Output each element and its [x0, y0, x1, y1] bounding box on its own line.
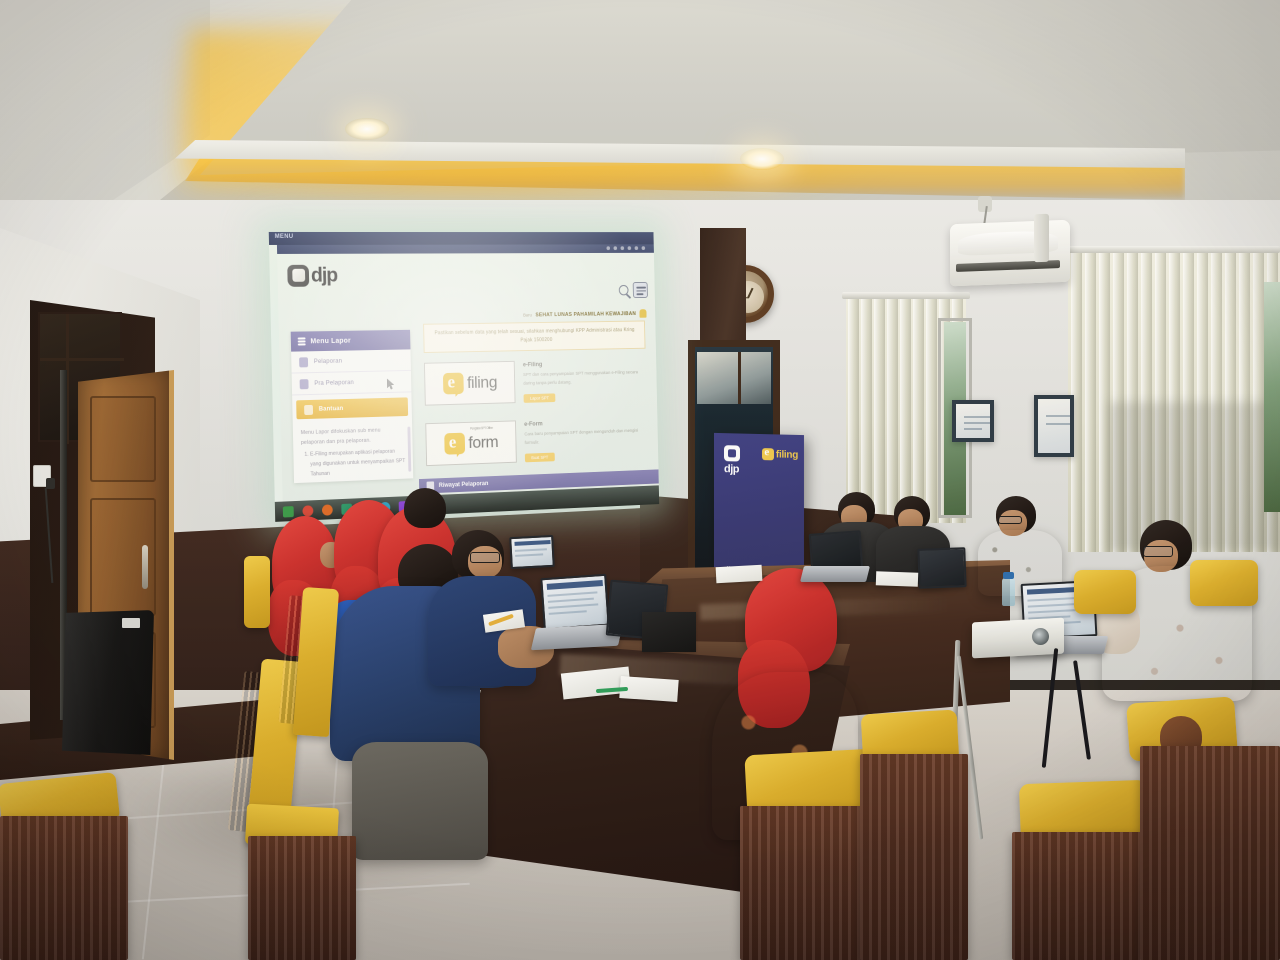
pa-speaker	[62, 610, 154, 755]
hamburger-menu-icon[interactable]	[633, 282, 648, 298]
standee-djp-logo: djp	[724, 445, 740, 475]
djp-mark-icon	[724, 445, 740, 461]
eyeglasses	[1143, 546, 1173, 557]
efiling-action-button[interactable]: Lapor SPT	[524, 394, 556, 403]
downlight-icon	[740, 148, 784, 170]
bell-icon	[639, 309, 646, 318]
start-icon[interactable]	[283, 506, 294, 517]
efiling-description: SPT dan cara penyampaian SPT menggunakan…	[523, 368, 646, 388]
blind-rail	[1062, 246, 1280, 253]
efiling-e-icon	[762, 448, 774, 460]
ticker-prefix: Baru	[523, 313, 532, 318]
document-icon	[299, 357, 308, 367]
sidebar-item-bantuan-active[interactable]: Bantuan	[296, 397, 408, 419]
search-icon[interactable]	[619, 285, 629, 295]
meeting-room-photo: MENU djp Baru SEHAT LUNAS PAHAMILAH KEWA…	[0, 0, 1280, 960]
eform-tagline: Pengisian SPT Offline	[470, 426, 493, 431]
standee-efiling-logo: filing	[762, 448, 798, 461]
service-row-efiling: filing e-Filing SPT dan cara penyampaian…	[424, 358, 647, 408]
eform-action-button[interactable]: Buat SPT	[525, 453, 555, 463]
sidebar-item-pelaporan[interactable]: Pelaporan	[291, 349, 411, 373]
laptop-screen[interactable]	[509, 535, 555, 569]
blind-rail	[842, 292, 970, 299]
chrome-icon[interactable]	[302, 505, 313, 516]
efiling-logo-card[interactable]: filing	[424, 361, 516, 406]
framed-certificate-left	[952, 400, 994, 442]
service-row-eform: Pengisian SPT Offline form e-Form Cara b…	[425, 416, 648, 468]
downlight-icon	[345, 118, 389, 140]
water-bottle[interactable]	[1002, 578, 1015, 606]
framed-certificate-right	[1034, 395, 1074, 457]
os-titlebar: MENU	[269, 232, 654, 245]
site-navbar	[277, 244, 654, 254]
standee-djp-text: djp	[724, 463, 740, 475]
sidebar-scrollbar[interactable]	[407, 427, 411, 472]
eform-word: form	[468, 433, 498, 452]
file-icon	[300, 379, 309, 389]
speaker-label	[122, 618, 140, 628]
wall-plug	[46, 478, 55, 489]
os-titlebar-label: MENU	[275, 234, 294, 240]
laptop-screen-back	[917, 547, 966, 589]
ticker-text: SEHAT LUNAS PAHAMILAH KEWAJIBAN	[535, 311, 636, 318]
riwayat-label: Riwayat Pelaporan	[439, 481, 489, 489]
eform-logo-card[interactable]: Pengisian SPT Offline form	[425, 420, 517, 466]
eyeglasses	[470, 552, 500, 563]
eform-e-icon	[444, 433, 465, 455]
navbar-dots	[606, 246, 645, 250]
djp-mark-icon	[287, 265, 309, 287]
firefox-icon[interactable]	[322, 504, 333, 515]
notice-text: Pastikan sebelum data yang telah sesuai,…	[432, 326, 638, 347]
ac-pipe-cover	[1034, 214, 1049, 263]
efiling-word: filing	[467, 373, 497, 393]
eyeglasses	[998, 516, 1022, 524]
laptop-bag	[642, 612, 696, 652]
door-handle[interactable]	[142, 545, 148, 589]
paper-document	[716, 565, 763, 583]
pointer-cursor	[386, 377, 395, 389]
laptop-screen[interactable]	[540, 574, 609, 630]
sidebar-header: Menu Lapor	[291, 330, 411, 352]
paper-document	[876, 571, 918, 586]
vertical-blinds	[1068, 252, 1280, 552]
djp-logo[interactable]: djp	[287, 265, 337, 287]
news-ticker: Baru SEHAT LUNAS PAHAMILAH KEWAJIBAN	[523, 309, 647, 319]
efiling-title: e-Filing	[523, 360, 646, 368]
projector-lens	[1032, 628, 1049, 645]
sidebar-item-label: Pra Pelaporan	[314, 380, 354, 387]
laptop-keyboard[interactable]	[800, 566, 870, 582]
sidebar-list-item: E-Filing merupakan aplikasi pelaporan ya…	[310, 448, 406, 480]
info-icon	[304, 404, 313, 414]
djp-logo-text: djp	[311, 266, 338, 286]
sidebar-body: Menu Lapor difokuskan sub menu pelaporan…	[293, 421, 414, 486]
sidebar-item-label: Pelaporan	[314, 358, 342, 365]
eform-description: Cara baru penyampaian SPT dengan mengund…	[524, 427, 647, 448]
sidebar-title: Menu Lapor	[310, 337, 351, 345]
menu-lapor-sidebar: Menu Lapor Pelaporan Pra Pelaporan Bantu…	[291, 330, 414, 483]
efiling-e-icon	[443, 373, 464, 395]
standee-efiling-text: filing	[776, 449, 798, 461]
notice-banner: Pastikan sebelum data yang telah sesuai,…	[423, 320, 645, 353]
sidebar-paragraph: Menu Lapor difokuskan sub menu pelaporan…	[301, 426, 405, 448]
bottle-cap	[1003, 572, 1014, 579]
projector	[972, 618, 1064, 659]
back-door-glass	[697, 352, 771, 404]
sidebar-active-label: Bantuan	[319, 406, 344, 413]
paper-document	[619, 676, 678, 702]
back-door-mullion	[738, 352, 741, 404]
hamburger-menu-icon[interactable]	[298, 338, 306, 346]
projection-screen: MENU djp Baru SEHAT LUNAS PAHAMILAH KEWA…	[269, 232, 659, 522]
